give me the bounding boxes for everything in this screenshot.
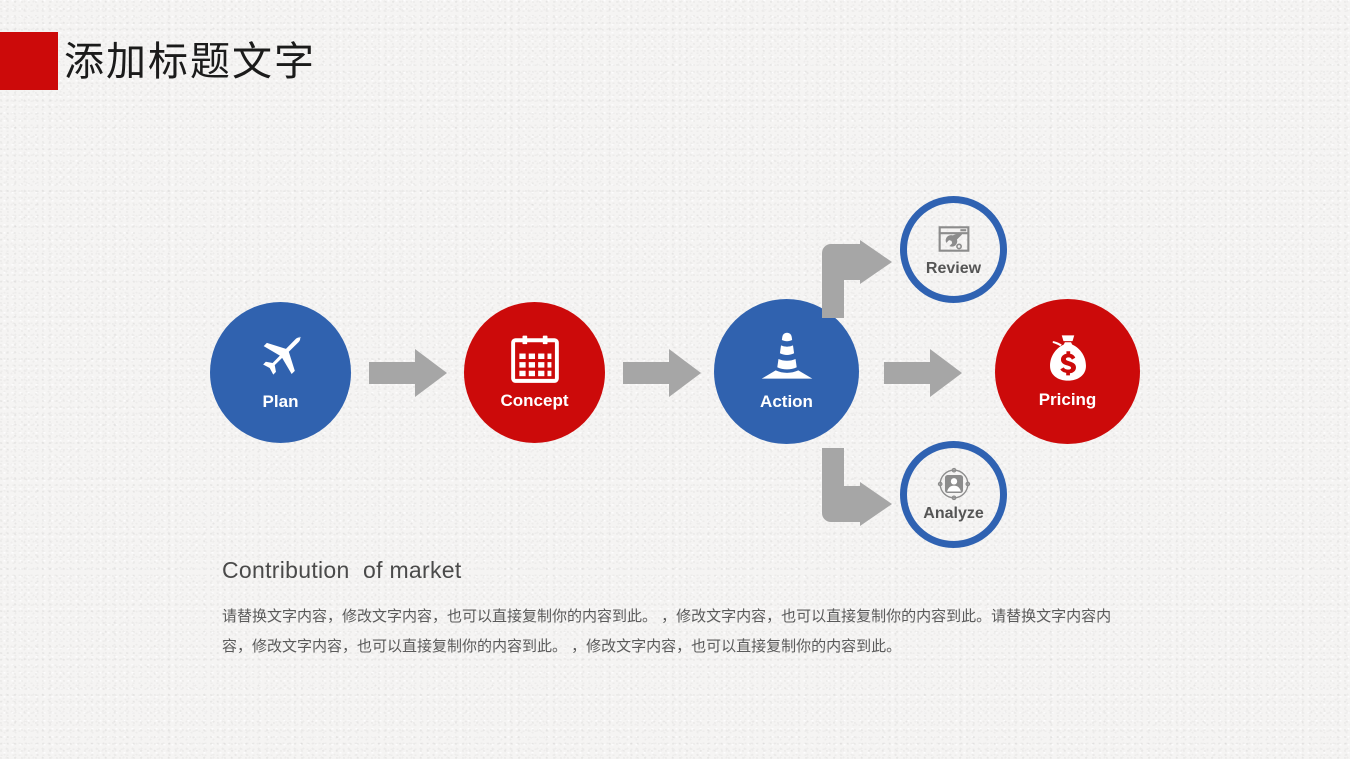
flow-node-concept[interactable]: Concept	[464, 302, 605, 443]
flow-node-label: Action	[760, 392, 813, 412]
flow-node-label: Review	[926, 260, 981, 278]
flow-arrow-action-to-pricing	[884, 345, 962, 406]
flow-arrow-action-to-review	[818, 240, 892, 323]
traffic-cone-icon	[760, 331, 814, 385]
slide-canvas: 添加标题文字 Plan	[0, 0, 1350, 759]
flow-arrow-plan-to-concept	[369, 345, 447, 406]
window-wrench-icon	[937, 222, 971, 256]
flow-node-pricing[interactable]: Pricing	[995, 299, 1140, 444]
flow-node-label: Plan	[263, 392, 299, 412]
flow-node-plan[interactable]: Plan	[210, 302, 351, 443]
person-target-icon	[937, 467, 971, 501]
flow-node-label: Analyze	[923, 505, 983, 523]
flow-node-label: Pricing	[1039, 390, 1097, 410]
flow-arrow-action-to-analyze	[818, 448, 892, 531]
section-caption: Contribution of market	[222, 557, 462, 584]
flow-arrow-concept-to-action	[623, 345, 701, 406]
money-bag-icon	[1043, 333, 1093, 383]
section-paragraph: 请替换文字内容，修改文字内容，也可以直接复制你的内容到此。 ，修改文字内容，也可…	[222, 602, 1140, 662]
calendar-icon	[510, 334, 560, 384]
flow-node-review[interactable]: Review	[900, 196, 1007, 303]
flow-node-label: Concept	[501, 391, 569, 411]
airplane-icon	[255, 333, 307, 385]
flow-node-analyze[interactable]: Analyze	[900, 441, 1007, 548]
